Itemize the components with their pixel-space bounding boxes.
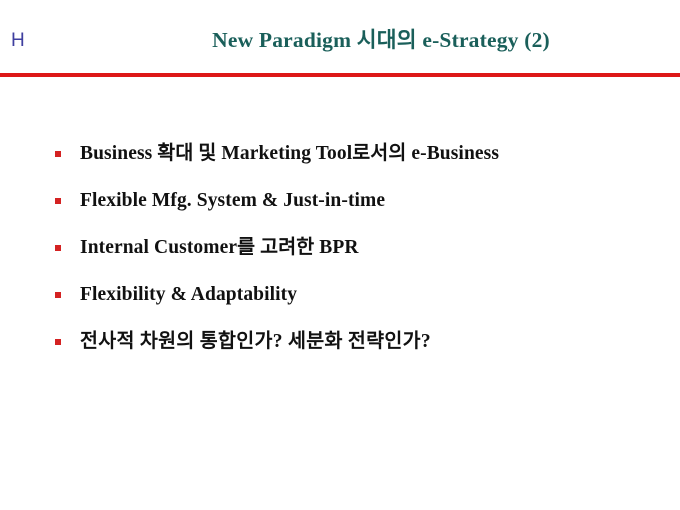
bullet-list: Business 확대 및 Marketing Tool로서의 e-Busine… — [0, 142, 680, 377]
square-bullet-icon — [55, 339, 61, 345]
list-item-label: Business 확대 및 Marketing Tool로서의 e-Busine… — [80, 142, 499, 166]
list-item: Internal Customer를 고려한 BPR — [0, 236, 680, 283]
square-bullet-icon — [55, 245, 61, 251]
list-item: 전사적 차원의 통합인가? 세분화 전략인가? — [0, 330, 680, 377]
square-bullet-icon — [55, 292, 61, 298]
presentation-slide: H New Paradigm 시대의 e-Strategy (2) Busine… — [0, 0, 680, 510]
list-item-label: Internal Customer를 고려한 BPR — [80, 236, 359, 260]
list-item: Flexibility & Adaptability — [0, 283, 680, 330]
list-item: Business 확대 및 Marketing Tool로서의 e-Busine… — [0, 142, 680, 189]
list-item-label: Flexible Mfg. System & Just-in-time — [80, 189, 385, 213]
square-bullet-icon — [55, 151, 61, 157]
square-bullet-icon — [55, 198, 61, 204]
list-item: Flexible Mfg. System & Just-in-time — [0, 189, 680, 236]
title-divider-rule — [0, 73, 680, 77]
list-item-label: 전사적 차원의 통합인가? 세분화 전략인가? — [80, 330, 431, 354]
slide-title: New Paradigm 시대의 e-Strategy (2) — [0, 27, 662, 54]
list-item-label: Flexibility & Adaptability — [80, 283, 297, 307]
